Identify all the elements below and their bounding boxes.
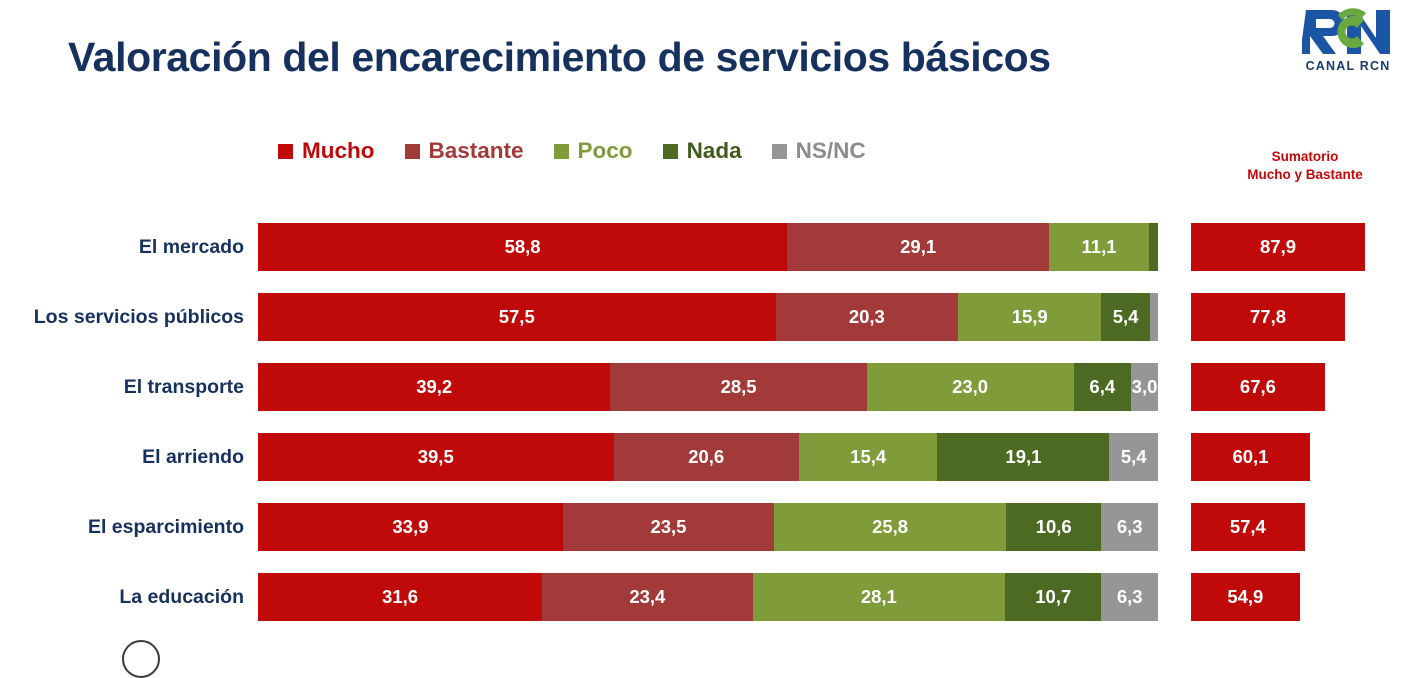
bar-segment-value: 57,5 (499, 308, 535, 327)
bar-segment-value: 58,8 (505, 238, 541, 257)
bar-segment-ns-nc[interactable]: 3,0 (1131, 363, 1158, 411)
bar-segment-nada[interactable]: 6,4 (1074, 363, 1132, 411)
bar-segment-value: 11,1 (1082, 238, 1117, 257)
bar-segment-value: 28,5 (721, 378, 757, 397)
summary-value: 77,8 (1250, 308, 1286, 327)
stacked-bar[interactable]: 39,520,615,419,15,4 (258, 433, 1158, 481)
bar-segment-poco[interactable]: 15,4 (799, 433, 938, 481)
bar-segment-nada[interactable]: 10,7 (1005, 573, 1101, 621)
bar-segment-value: 23,0 (952, 378, 988, 397)
summary-cell: 60,1 (1191, 433, 1310, 481)
bar-segment-mucho[interactable]: 58,8 (258, 223, 787, 271)
legend-label: Nada (687, 138, 742, 164)
bar-segment-value: 39,2 (416, 378, 452, 397)
category-label: El arriendo (0, 446, 258, 469)
page-footer-mark (122, 640, 160, 678)
legend-item-mucho[interactable]: Mucho (278, 138, 375, 164)
summary-value: 87,9 (1260, 238, 1296, 257)
summary-bar[interactable]: 57,4 (1191, 503, 1305, 551)
category-label: La educación (0, 586, 258, 609)
bar-segment-value: 6,4 (1089, 378, 1115, 397)
bar-segment-value: 10,6 (1036, 518, 1072, 537)
legend-item-bastante[interactable]: Bastante (405, 138, 524, 164)
bar-segment-poco[interactable]: 23,0 (867, 363, 1074, 411)
chart-row: El transporte39,228,523,06,43,067,6 (0, 352, 1418, 422)
bar-segment-value: 25,8 (872, 518, 908, 537)
summary-cell: 57,4 (1191, 503, 1305, 551)
legend-swatch-icon (772, 144, 787, 159)
summary-cell: 77,8 (1191, 293, 1345, 341)
bar-segment-value: 23,4 (629, 588, 665, 607)
legend-label: Bastante (429, 138, 524, 164)
bar-segment-value: 5,4 (1121, 448, 1147, 467)
bar-segment-poco[interactable]: 25,8 (774, 503, 1006, 551)
summary-value: 57,4 (1230, 518, 1266, 537)
bar-segment-value: 31,6 (382, 588, 418, 607)
bar-segment-value: 28,1 (861, 588, 897, 607)
bar-segment-mucho[interactable]: 39,2 (258, 363, 610, 411)
bar-segment-bastante[interactable]: 20,3 (776, 293, 959, 341)
summary-bar[interactable]: 54,9 (1191, 573, 1300, 621)
summary-cell: 54,9 (1191, 573, 1300, 621)
bar-segment-ns-nc[interactable]: 0,9 (1150, 293, 1158, 341)
logo-wordmark: CANAL RCN (1300, 59, 1396, 73)
summary-bar[interactable]: 67,6 (1191, 363, 1325, 411)
summary-header-line1: Sumatorio (1205, 148, 1405, 166)
bar-segment-value: 29,1 (900, 238, 936, 257)
chart-legend: Mucho Bastante Poco Nada NS/NC (278, 138, 866, 164)
bar-segment-nada[interactable]: 1,0 (1149, 223, 1158, 271)
bar-segment-value: 10,7 (1035, 588, 1071, 607)
summary-value: 67,6 (1240, 378, 1276, 397)
legend-label: Mucho (302, 138, 375, 164)
bar-segment-mucho[interactable]: 31,6 (258, 573, 542, 621)
rcn-logo-mark (1302, 6, 1394, 58)
bar-segment-mucho[interactable]: 39,5 (258, 433, 614, 481)
stacked-bar[interactable]: 57,520,315,95,40,9 (258, 293, 1158, 341)
chart-row: El esparcimiento33,923,525,810,66,357,4 (0, 492, 1418, 562)
bar-segment-value: 5,4 (1113, 308, 1139, 327)
stacked-bar-chart: El mercado58,829,111,11,087,9Los servici… (0, 212, 1418, 632)
stacked-bar[interactable]: 58,829,111,11,0 (258, 223, 1158, 271)
canal-rcn-logo: CANAL RCN (1300, 6, 1396, 78)
legend-item-nada[interactable]: Nada (663, 138, 742, 164)
stacked-bar[interactable]: 31,623,428,110,76,3 (258, 573, 1158, 621)
bar-segment-value: 3,0 (1132, 378, 1158, 397)
bar-segment-ns-nc[interactable]: 5,4 (1109, 433, 1158, 481)
bar-segment-value: 6,3 (1117, 588, 1143, 607)
bar-segment-mucho[interactable]: 57,5 (258, 293, 776, 341)
category-label: El esparcimiento (0, 516, 258, 539)
chart-row: El arriendo39,520,615,419,15,460,1 (0, 422, 1418, 492)
chart-row: La educación31,623,428,110,76,354,9 (0, 562, 1418, 632)
summary-header-line2: Mucho y Bastante (1205, 166, 1405, 184)
bar-segment-value: 6,3 (1117, 518, 1143, 537)
bar-segment-bastante[interactable]: 28,5 (610, 363, 866, 411)
stacked-bar[interactable]: 39,228,523,06,43,0 (258, 363, 1158, 411)
page-title: Valoración del encarecimiento de servici… (68, 34, 1051, 81)
summary-column-header: Sumatorio Mucho y Bastante (1205, 148, 1405, 184)
category-label: El transporte (0, 376, 258, 399)
legend-item-poco[interactable]: Poco (554, 138, 633, 164)
legend-swatch-icon (554, 144, 569, 159)
bar-segment-poco[interactable]: 15,9 (958, 293, 1101, 341)
chart-row: Los servicios públicos57,520,315,95,40,9… (0, 282, 1418, 352)
bar-segment-bastante[interactable]: 23,4 (542, 573, 752, 621)
category-label: El mercado (0, 236, 258, 259)
bar-segment-value: 20,3 (849, 308, 885, 327)
bar-segment-value: 39,5 (418, 448, 454, 467)
bar-segment-value: 15,9 (1012, 308, 1048, 327)
summary-bar[interactable]: 77,8 (1191, 293, 1345, 341)
summary-bar[interactable]: 60,1 (1191, 433, 1310, 481)
chart-row: El mercado58,829,111,11,087,9 (0, 212, 1418, 282)
summary-value: 60,1 (1232, 448, 1268, 467)
bar-segment-value: 23,5 (650, 518, 686, 537)
legend-item-nsnc[interactable]: NS/NC (772, 138, 866, 164)
bar-segment-value: 20,6 (688, 448, 724, 467)
legend-swatch-icon (278, 144, 293, 159)
bar-segment-nada[interactable]: 10,6 (1006, 503, 1101, 551)
bar-segment-bastante[interactable]: 20,6 (614, 433, 799, 481)
summary-cell: 67,6 (1191, 363, 1325, 411)
legend-swatch-icon (663, 144, 678, 159)
legend-label: NS/NC (796, 138, 866, 164)
bar-segment-value: 19,1 (1005, 448, 1041, 467)
bar-segment-ns-nc[interactable]: 6,3 (1101, 503, 1158, 551)
bar-segment-poco[interactable]: 11,1 (1049, 223, 1149, 271)
summary-bar[interactable]: 87,9 (1191, 223, 1365, 271)
bar-segment-bastante[interactable]: 29,1 (787, 223, 1049, 271)
summary-cell: 87,9 (1191, 223, 1365, 271)
bar-segment-value: 33,9 (392, 518, 428, 537)
bar-segment-value: 15,4 (850, 448, 886, 467)
bar-segment-ns-nc[interactable]: 6,3 (1101, 573, 1158, 621)
bar-segment-nada[interactable]: 5,4 (1101, 293, 1150, 341)
legend-label: Poco (578, 138, 633, 164)
legend-swatch-icon (405, 144, 420, 159)
stacked-bar[interactable]: 33,923,525,810,66,3 (258, 503, 1158, 551)
bar-segment-mucho[interactable]: 33,9 (258, 503, 563, 551)
category-label: Los servicios públicos (0, 306, 258, 329)
bar-segment-poco[interactable]: 28,1 (753, 573, 1006, 621)
summary-value: 54,9 (1227, 588, 1263, 607)
bar-segment-bastante[interactable]: 23,5 (563, 503, 774, 551)
bar-segment-nada[interactable]: 19,1 (937, 433, 1109, 481)
